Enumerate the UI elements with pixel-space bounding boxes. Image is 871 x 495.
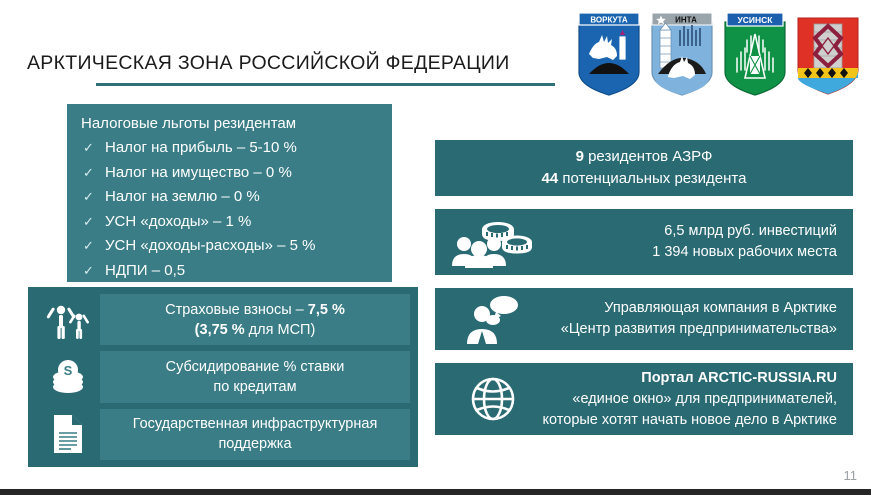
investments-card-text: 6,5 млрд руб. инвестиций 1 394 новых раб… [541,221,843,263]
svg-text:ВОРКУТА: ВОРКУТА [590,16,628,25]
investments-card: 6,5 млрд руб. инвестиций 1 394 новых раб… [435,209,853,275]
support-row-infrastructure: Государственная инфраструктурная поддерж… [36,409,410,460]
subsidy-line1: Субсидирование % ставки [166,359,345,375]
residents-card-text: 9 резидентов АЗРФ 44 потенциальных резид… [445,146,843,190]
insurance-line2-suffix: для МСП) [245,322,316,338]
residents-card: 9 резидентов АЗРФ 44 потенциальных резид… [435,140,853,196]
portal-line2: «единое окно» для предпринимателей, [572,391,837,407]
investments-line1: 6,5 млрд руб. инвестиций [664,223,837,239]
list-item-label: Налог на землю – 0 % [105,185,260,210]
globe-icon [445,375,541,423]
list-item: ✓ Налог на землю – 0 % [79,185,380,210]
list-item: ✓ Налог на имущество – 0 % [79,161,380,186]
coat-of-arms-usinsk: УСИНСК [721,8,789,96]
potential-residents-count: 44 [542,170,559,187]
infrastructure-line1: Государственная инфраструктурная [133,416,378,432]
portal-title: Портал ARCTIC-RUSSIA.RU [641,370,837,386]
coins-stack-icon: S [36,351,100,402]
tax-benefits-heading: Налоговые льготы резидентам [79,113,380,135]
residents-count: 9 [576,148,584,165]
support-row-insurance: Страховые взносы – 7,5 % (3,75 % для МСП… [36,294,410,345]
list-item-label: УСН «доходы-расходы» – 5 % [105,234,315,259]
portal-card-text: Портал ARCTIC-RUSSIA.RU «единое окно» дл… [541,368,843,431]
coat-of-arms-nenets [794,8,862,96]
svg-text:S: S [64,363,73,378]
list-item-label: УСН «доходы» – 1 % [105,210,251,235]
management-company-text: Управляющая компания в Арктике «Центр ра… [541,298,843,340]
svg-text:ИНТА: ИНТА [675,16,697,25]
insurance-rate: 7,5 % [308,302,345,318]
people-celebrating-icon [36,294,100,345]
list-item: ✓ УСН «доходы-расходы» – 5 % [79,234,380,259]
support-subsidy-text: Субсидирование % ставки по кредитам [100,351,410,402]
svg-text:УСИНСК: УСИНСК [737,15,773,25]
support-infrastructure-text: Государственная инфраструктурная поддерж… [100,409,410,460]
tax-benefits-card: Налоговые льготы резидентам ✓ Налог на п… [67,104,392,282]
check-icon: ✓ [79,210,105,235]
support-measures-panel: Страховые взносы – 7,5 % (3,75 % для МСП… [28,287,418,467]
insurance-sme-rate: (3,75 % [195,322,245,338]
slide-root: АРКТИЧЕСКАЯ ЗОНА РОССИЙСКОЙ ФЕДЕРАЦИИ ВО… [0,0,871,495]
management-line1: Управляющая компания в Арктике [604,300,837,316]
check-icon: ✓ [79,234,105,259]
person-speech-bubble-icon [445,294,541,344]
check-icon: ✓ [79,136,105,161]
page-number: 11 [844,468,858,483]
residents-label: резидентов АЗРФ [584,148,712,165]
investments-line2: 1 394 новых рабочих места [652,244,837,260]
coat-of-arms-vorkuta: ВОРКУТА [575,8,643,96]
subsidy-line2: по кредитам [213,379,296,395]
investments-icon-group [445,216,541,268]
portal-line3: которые хотят начать новое дело в Арктик… [543,412,837,428]
infrastructure-line2: поддержка [218,436,291,452]
support-row-subsidy: S Субсидирование % ставки по кредитам [36,351,410,402]
insurance-line1-prefix: Страховые взносы – [165,302,308,318]
stats-column: 9 резидентов АЗРФ 44 потенциальных резид… [435,140,853,435]
list-item-label: НДПИ – 0,5 [105,259,185,284]
portal-card: Портал ARCTIC-RUSSIA.RU «единое окно» дл… [435,363,853,435]
support-insurance-text: Страховые взносы – 7,5 % (3,75 % для МСП… [100,294,410,345]
potential-residents-label: потенциальных резидента [558,170,746,187]
bottom-bar [0,489,871,495]
document-icon [36,409,100,460]
list-item: ✓ УСН «доходы» – 1 % [79,210,380,235]
coat-of-arms-inta: ИНТА [648,8,716,96]
tax-benefits-list: ✓ Налог на прибыль – 5-10 % ✓ Налог на и… [79,136,380,283]
coat-of-arms-group: ВОРКУТА ИНТА [575,8,862,96]
management-company-card: Управляющая компания в Арктике «Центр ра… [435,288,853,350]
check-icon: ✓ [79,259,105,284]
title-underline [96,83,555,86]
list-item: ✓ Налог на прибыль – 5-10 % [79,136,380,161]
check-icon: ✓ [79,161,105,186]
page-title: АРКТИЧЕСКАЯ ЗОНА РОССИЙСКОЙ ФЕДЕРАЦИИ [27,52,510,75]
list-item: ✓ НДПИ – 0,5 [79,259,380,284]
check-icon: ✓ [79,185,105,210]
list-item-label: Налог на имущество – 0 % [105,161,292,186]
management-line2: «Центр развития предпринимательства» [561,321,837,337]
list-item-label: Налог на прибыль – 5-10 % [105,136,297,161]
